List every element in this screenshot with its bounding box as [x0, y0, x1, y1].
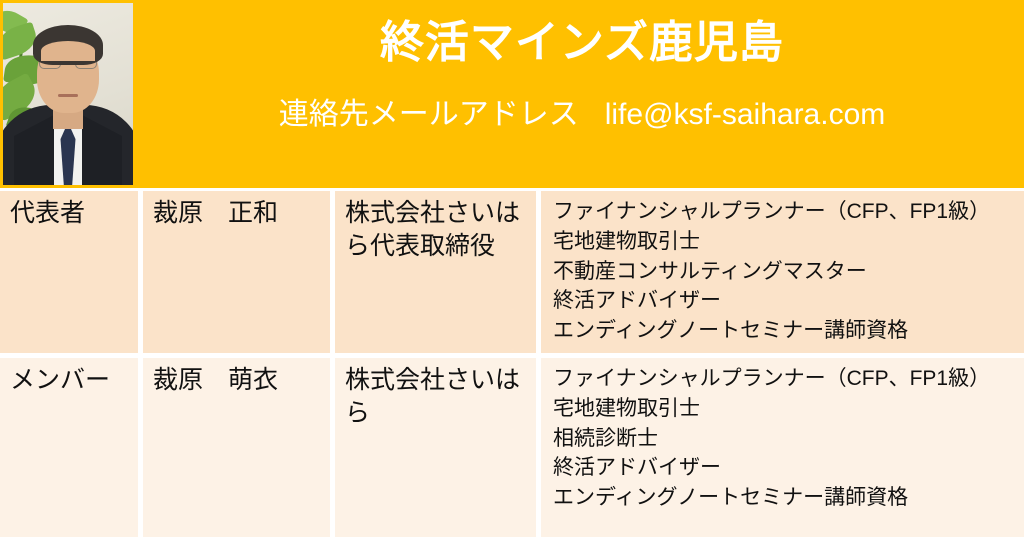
page-title: 終活マインズ鹿児島 — [380, 18, 784, 69]
role-text: 代表者 — [10, 197, 130, 230]
header-text-block: 終活マインズ鹿児島 連絡先メールアドレスlife@ksf-saihara.com — [140, 0, 1024, 188]
profile-table: 代表者 裁原 正和 株式会社さいはら代表取締役 ファイナンシャルプランナー（CF… — [0, 191, 1024, 537]
organization-text: 株式会社さいはら代表取締役 — [345, 197, 528, 262]
portrait-photo-frame — [0, 0, 137, 188]
cell-qualifications: ファイナンシャルプランナー（CFP、FP1級） 宅地建物取引士 相続診断士 終活… — [536, 358, 1024, 537]
cell-qualifications: ファイナンシャルプランナー（CFP、FP1級） 宅地建物取引士 不動産コンサルテ… — [536, 191, 1024, 353]
slide-root: 終活マインズ鹿児島 連絡先メールアドレスlife@ksf-saihara.com — [0, 0, 1024, 537]
contact-line: 連絡先メールアドレスlife@ksf-saihara.com — [279, 97, 886, 133]
portrait-photo — [3, 3, 133, 185]
cell-role: 代表者 — [0, 191, 138, 353]
cell-role: メンバー — [0, 358, 138, 537]
cell-name: 裁原 萌衣 — [138, 358, 330, 537]
header-band: 終活マインズ鹿児島 連絡先メールアドレスlife@ksf-saihara.com — [0, 0, 1024, 188]
name-text: 裁原 萌衣 — [153, 364, 322, 397]
contact-email: life@ksf-saihara.com — [605, 98, 886, 131]
cell-name: 裁原 正和 — [138, 191, 330, 353]
table-row: メンバー 裁原 萌衣 株式会社さいはら ファイナンシャルプランナー（CFP、FP… — [0, 358, 1024, 537]
cell-organization: 株式会社さいはら代表取締役 — [330, 191, 536, 353]
cell-organization: 株式会社さいはら — [330, 358, 536, 537]
table-row: 代表者 裁原 正和 株式会社さいはら代表取締役 ファイナンシャルプランナー（CF… — [0, 191, 1024, 358]
person-hair — [33, 25, 103, 65]
role-text: メンバー — [10, 364, 130, 397]
name-text: 裁原 正和 — [153, 197, 322, 230]
qualifications-text: ファイナンシャルプランナー（CFP、FP1級） 宅地建物取引士 不動産コンサルテ… — [553, 197, 1016, 346]
person-mouth — [58, 94, 78, 97]
contact-label: 連絡先メールアドレス — [279, 98, 579, 131]
qualifications-text: ファイナンシャルプランナー（CFP、FP1級） 宅地建物取引士 相続診断士 終活… — [553, 364, 1016, 513]
organization-text: 株式会社さいはら — [345, 364, 528, 429]
